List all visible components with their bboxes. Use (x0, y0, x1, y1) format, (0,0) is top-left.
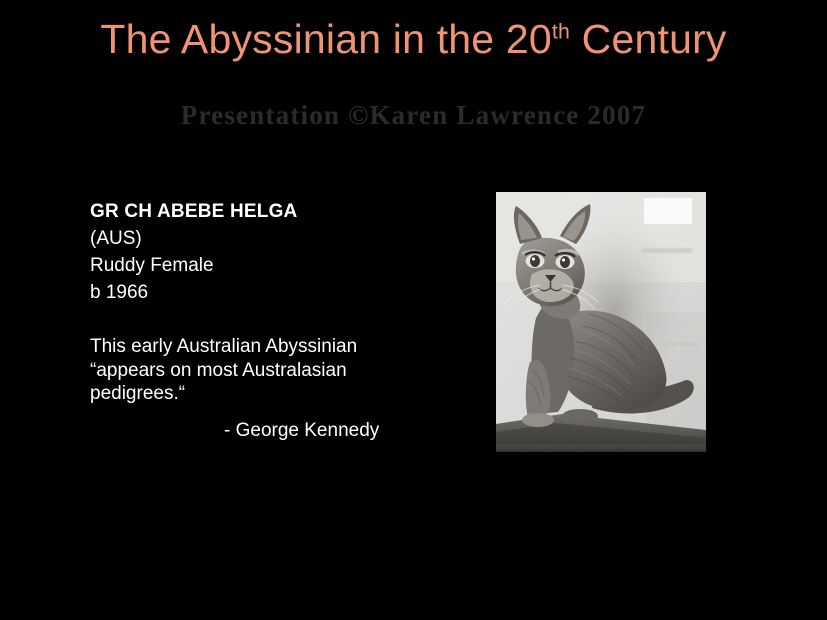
title-superscript-th: th (552, 19, 570, 43)
cat-photo (496, 192, 706, 452)
cat-photo-image (496, 192, 706, 452)
quote-line-2: “appears on most Australasian (90, 359, 480, 383)
cat-name: GR CH ABEBE HELGA (90, 198, 480, 225)
title-text-part1: The Abyssinian in the 20 (100, 16, 552, 62)
presentation-credit: Presentation ©Karen Lawrence 2007 (0, 99, 827, 131)
quote-line-3: pedigrees.“ (90, 382, 480, 406)
quote-line-1: This early Australian Abyssinian (90, 335, 480, 359)
title-text-part2: Century (570, 16, 727, 62)
cat-color-sex: Ruddy Female (90, 252, 480, 279)
page-title: The Abyssinian in the 20th Century (0, 14, 827, 64)
quote-block: This early Australian Abyssinian “appear… (90, 335, 480, 442)
cat-birth-year: b 1966 (90, 279, 480, 306)
presentation-slide: The Abyssinian in the 20th Century Prese… (0, 0, 827, 620)
cat-country: (AUS) (90, 225, 480, 252)
quote-attribution: - George Kennedy (90, 419, 480, 443)
cat-info-block: GR CH ABEBE HELGA (AUS) Ruddy Female b 1… (90, 198, 480, 442)
